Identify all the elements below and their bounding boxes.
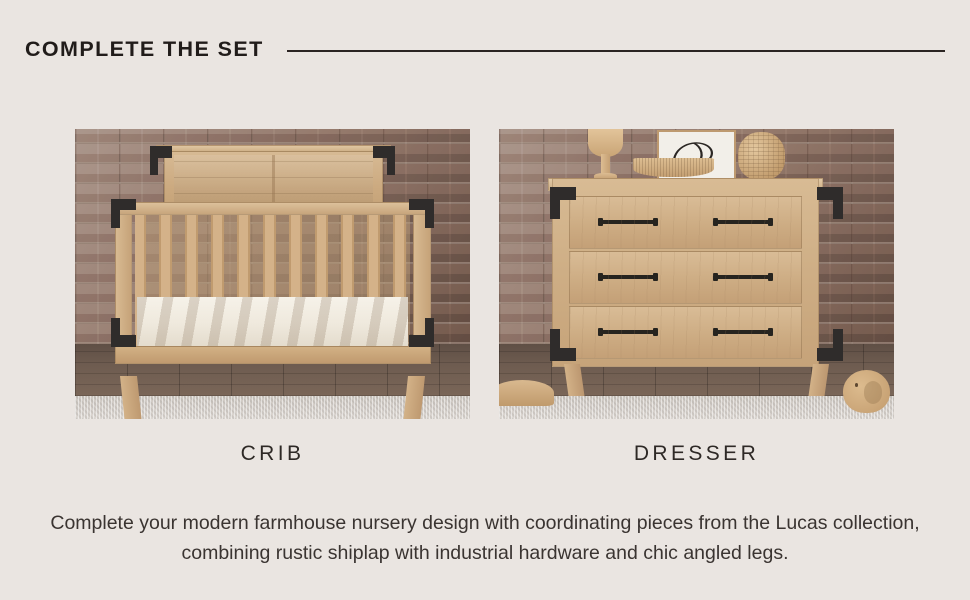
crib-leg-right [403, 376, 424, 420]
crib-bracket-top-left [150, 146, 172, 175]
dresser-handle-3-right[interactable] [713, 330, 773, 334]
dresser-drawer-3[interactable] [569, 306, 802, 359]
product-photo-crib[interactable] [75, 129, 470, 419]
caption-crib: CRIB [75, 437, 470, 471]
dresser-drawer-1[interactable] [569, 196, 802, 249]
crib-bracket-body-bottom-left [111, 318, 137, 347]
page-title: COMPLETE THE SET [25, 39, 264, 61]
crib-leg-left [120, 376, 141, 420]
dresser-bracket-bottom-right [817, 329, 843, 361]
header-divider [287, 50, 945, 52]
crib-bracket-top-right [373, 146, 395, 175]
product-photo-dresser[interactable] [499, 129, 894, 419]
caption-dresser: DRESSER [499, 437, 894, 471]
section-header: COMPLETE THE SET [0, 0, 970, 100]
dresser-bracket-top-right [817, 187, 843, 219]
crib-mattress [137, 297, 409, 346]
crib-bracket-body-bottom-right [409, 318, 435, 347]
crib-rail-top [115, 202, 431, 216]
dresser-leg-right [809, 364, 829, 396]
dresser-handle-2-right[interactable] [713, 275, 773, 279]
product-card-crib[interactable] [75, 129, 470, 419]
dresser-handle-1-left[interactable] [598, 220, 658, 224]
dresser-handle-2-left[interactable] [598, 275, 658, 279]
dresser-handle-3-left[interactable] [598, 330, 658, 334]
crib-furniture [75, 129, 470, 419]
dresser-handle-1-right[interactable] [713, 220, 773, 224]
crib-bracket-body-top-right [409, 199, 435, 228]
product-grid [75, 129, 894, 419]
crib-rail-bottom [115, 346, 431, 364]
collection-description: Complete your modern farmhouse nursery d… [40, 508, 930, 568]
product-card-dresser[interactable] [499, 129, 894, 419]
product-captions: CRIB DRESSER [75, 437, 894, 471]
dresser-bracket-top-left [550, 187, 576, 219]
dresser-case [552, 178, 819, 367]
dresser-drawer-2[interactable] [569, 251, 802, 304]
dresser-furniture [499, 129, 894, 419]
dresser-leg-left [564, 364, 584, 396]
decor-wooden-rocker-toy [499, 380, 554, 406]
decor-wooden-elephant-toy [843, 370, 890, 414]
crib-bracket-body-top-left [111, 199, 137, 228]
dresser-bracket-bottom-left [550, 329, 576, 361]
crib-body [115, 202, 431, 364]
